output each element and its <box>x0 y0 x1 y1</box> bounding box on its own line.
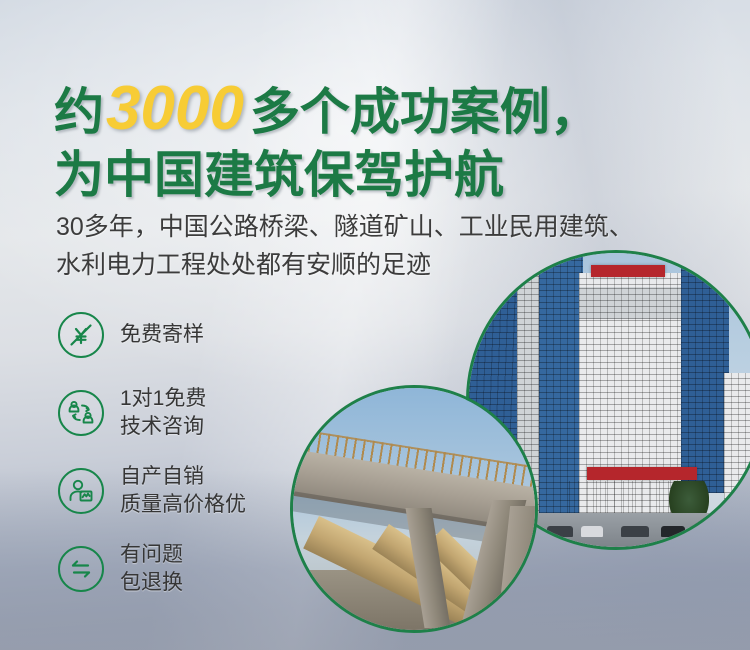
feature-item-free-sample[interactable]: 免费寄样 <box>58 296 318 374</box>
feature-item-self-production[interactable]: 自产自销 质量高价格优 <box>58 452 318 530</box>
subtitle-line-1: 30多年，中国公路桥梁、隧道矿山、工业民用建筑、 <box>56 208 706 246</box>
headline-line-2: 为中国建筑保驾护航 <box>54 150 714 200</box>
car <box>547 526 573 537</box>
headline-line-1: 约3000多个成功案例， <box>54 78 714 140</box>
promo-banner: 约3000多个成功案例， 为中国建筑保驾护航 30多年，中国公路桥梁、隧道矿山、… <box>0 0 750 650</box>
tower-right-glass <box>681 250 729 493</box>
return-exchange-icon <box>58 546 104 592</box>
headline-suffix: 多个成功案例， <box>250 84 600 140</box>
tower-left-glass-b <box>539 250 583 519</box>
feature-label: 1对1免费 技术咨询 <box>120 385 206 442</box>
feature-item-consultation[interactable]: 1对1免费 技术咨询 <box>58 374 318 452</box>
feature-label: 自产自销 质量高价格优 <box>120 463 246 520</box>
rooftop-sign <box>591 265 665 277</box>
tower-right-white <box>724 373 750 523</box>
facade-sign <box>587 467 697 480</box>
feature-label: 免费寄样 <box>120 321 204 349</box>
free-shipping-icon <box>58 312 104 358</box>
car <box>661 526 685 537</box>
headline: 约3000多个成功案例， 为中国建筑保驾护航 <box>54 78 714 200</box>
self-production-icon <box>58 468 104 514</box>
feature-list: 免费寄样 1对1免费 技术咨询 <box>58 296 318 608</box>
tower-center-crown <box>579 287 691 319</box>
bridge-photo-content <box>293 388 535 630</box>
headline-prefix: 约 <box>54 84 104 140</box>
feature-label: 有问题 包退换 <box>120 541 183 598</box>
headline-number: 3000 <box>104 74 250 143</box>
bridge-photo <box>290 385 538 633</box>
one-to-one-consult-icon <box>58 390 104 436</box>
car <box>581 526 603 537</box>
feature-item-return-exchange[interactable]: 有问题 包退换 <box>58 530 318 608</box>
car <box>621 526 649 537</box>
